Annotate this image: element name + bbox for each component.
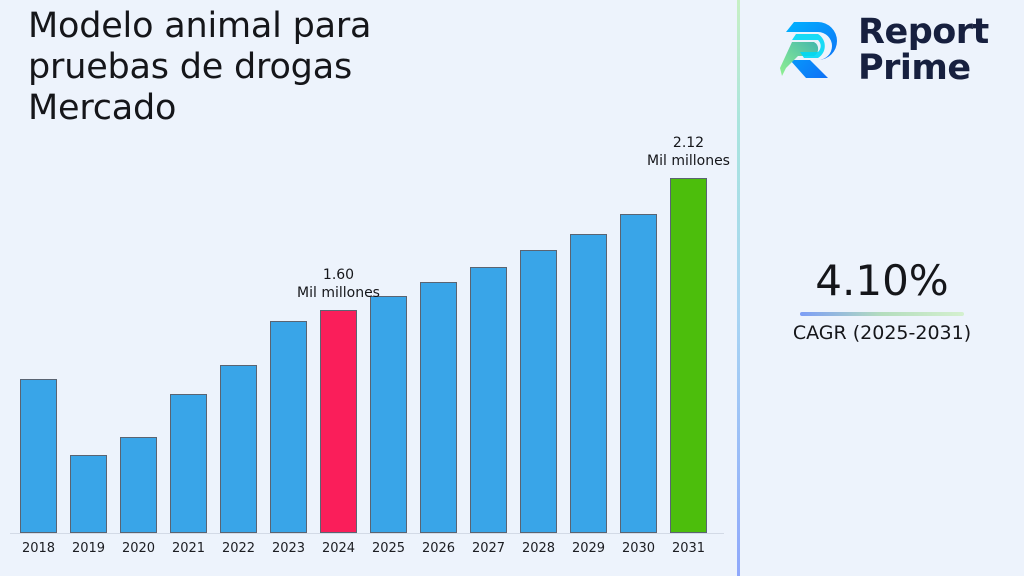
- x-tick-2028: 2028: [513, 540, 564, 558]
- x-tick-2031: 2031: [663, 540, 714, 558]
- bar-2021[interactable]: [170, 394, 207, 533]
- bar-2028[interactable]: [520, 250, 557, 533]
- bar-2026[interactable]: [420, 282, 457, 533]
- x-tick-2020: 2020: [113, 540, 164, 558]
- bar-2023[interactable]: [270, 321, 307, 533]
- x-tick-2023: 2023: [263, 540, 314, 558]
- bar-2020[interactable]: [120, 437, 157, 533]
- callout-unit: Mil millones: [275, 284, 402, 302]
- bar-2025[interactable]: [370, 296, 407, 533]
- bar-2029[interactable]: [570, 234, 607, 533]
- cagr-block: 4.10% CAGR (2025-2031): [740, 256, 1024, 346]
- x-axis-line: [10, 533, 724, 534]
- bar-2031[interactable]: [670, 178, 707, 533]
- cagr-divider-rule: [800, 312, 964, 316]
- x-tick-2018: 2018: [13, 540, 64, 558]
- callout-value: 2.12: [625, 134, 752, 152]
- callout-value: 1.60: [275, 266, 402, 284]
- x-tick-2030: 2030: [613, 540, 664, 558]
- bar-2030[interactable]: [620, 214, 657, 533]
- bar-callout-2024: 1.60Mil millones: [275, 266, 402, 302]
- slide-canvas: Modelo animal para pruebas de drogas Mer…: [0, 0, 1024, 576]
- brand-panel: Report Prime 4.10% CAGR (2025-2031): [740, 0, 1024, 576]
- report-prime-logo-mark: [780, 14, 844, 86]
- x-tick-2021: 2021: [163, 540, 214, 558]
- brand-logo: Report Prime: [780, 14, 989, 86]
- bar-2027[interactable]: [470, 267, 507, 533]
- bar-chart-plot: 2018201920202021202220232024202520262027…: [0, 0, 738, 576]
- x-tick-2026: 2026: [413, 540, 464, 558]
- x-tick-2022: 2022: [213, 540, 264, 558]
- bar-2018[interactable]: [20, 379, 57, 533]
- bar-2019[interactable]: [70, 455, 107, 533]
- chart-panel: Modelo animal para pruebas de drogas Mer…: [0, 0, 738, 576]
- x-tick-2027: 2027: [463, 540, 514, 558]
- brand-wordmark: Report Prime: [858, 14, 989, 86]
- bar-2022[interactable]: [220, 365, 257, 533]
- x-tick-2029: 2029: [563, 540, 614, 558]
- cagr-caption: CAGR (2025-2031): [740, 320, 1024, 346]
- callout-unit: Mil millones: [625, 152, 752, 170]
- brand-line-1: Report: [858, 14, 989, 50]
- x-tick-2019: 2019: [63, 540, 114, 558]
- x-tick-2025: 2025: [363, 540, 414, 558]
- bar-2024[interactable]: [320, 310, 357, 533]
- cagr-value: 4.10%: [740, 256, 1024, 306]
- bar-callout-2031: 2.12Mil millones: [625, 134, 752, 170]
- x-tick-2024: 2024: [313, 540, 364, 558]
- brand-line-2: Prime: [858, 50, 989, 86]
